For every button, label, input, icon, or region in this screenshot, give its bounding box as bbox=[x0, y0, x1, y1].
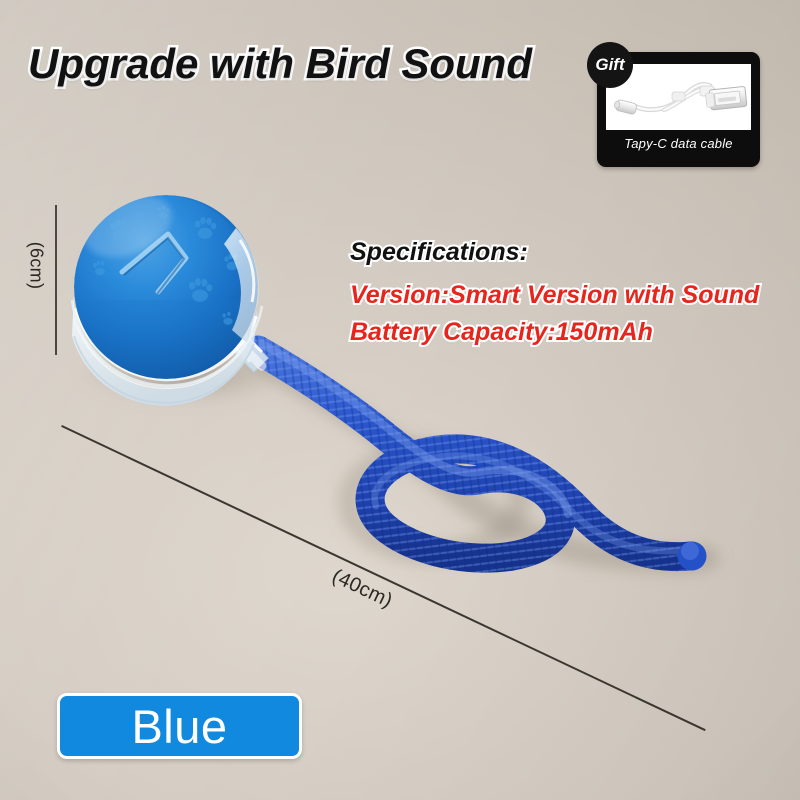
page-title: Upgrade with Bird Sound bbox=[28, 40, 532, 88]
gift-caption: Tapy-C data cable bbox=[597, 136, 760, 151]
specification-battery: Battery Capacity:150mAh bbox=[350, 318, 780, 347]
gift-badge: Gift bbox=[587, 42, 633, 88]
specifications-title: Specifications: bbox=[350, 238, 780, 267]
height-measure-label: (6cm) bbox=[26, 236, 47, 296]
gift-callout: Tapy-C data cable Gift bbox=[597, 52, 760, 167]
product-image: (6cm) (40cm) Upgrade with Bird Sound Spe… bbox=[0, 0, 800, 800]
color-badge[interactable]: Blue bbox=[57, 693, 302, 759]
specification-version: Version:Smart Version with Sound bbox=[350, 281, 780, 310]
specifications-block: Specifications: Version:Smart Version wi… bbox=[350, 238, 780, 355]
color-badge-label: Blue bbox=[131, 703, 227, 750]
